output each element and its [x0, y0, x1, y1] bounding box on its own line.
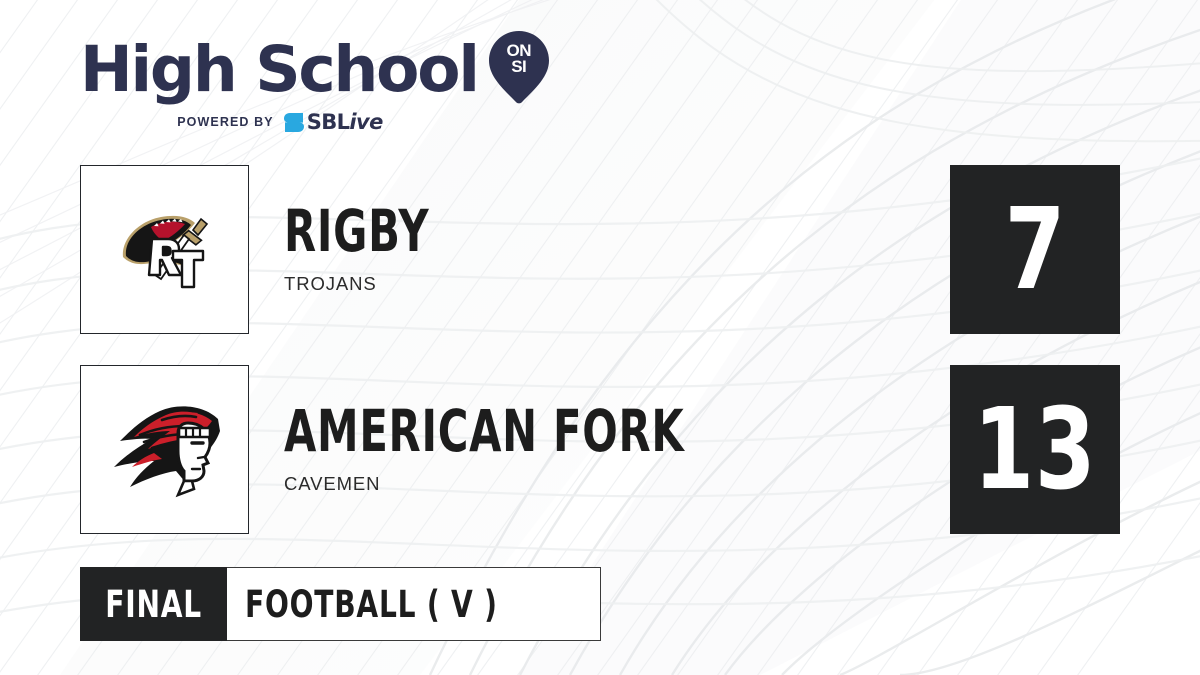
team-score-box: 13 [950, 365, 1120, 534]
pin-label: ON SI [488, 43, 550, 75]
team-name: RIGBY [284, 204, 429, 260]
sblive-text-ive: ive [349, 110, 382, 134]
team-row: AMERICAN FORK CAVEMEN [80, 365, 840, 534]
map-pin-icon: ON SI [488, 30, 550, 104]
powered-by-row: POWERED BY SBLive [80, 110, 480, 134]
powered-by-label: POWERED BY [177, 115, 273, 129]
sport-label-panel: FOOTBALL ( V ) [227, 567, 601, 641]
status-badge-label: FINAL [105, 583, 202, 626]
pin-label-si: SI [488, 59, 550, 75]
team-score: 7 [1004, 194, 1066, 306]
team-row: RIGBY TROJANS [80, 165, 486, 334]
sblive-logo: SBLive [283, 110, 383, 134]
game-status-bar: FINAL FOOTBALL ( V ) [80, 567, 601, 641]
team-logo-box [80, 365, 249, 534]
team-logo-box [80, 165, 249, 334]
sblive-text-sbl: SBL [307, 110, 350, 134]
team-mascot: TROJANS [284, 273, 486, 295]
team-score-box: 7 [950, 165, 1120, 334]
team-score: 13 [973, 394, 1096, 506]
american-fork-cavemen-logo [100, 397, 230, 502]
status-badge: FINAL [80, 567, 227, 641]
team-info: AMERICAN FORK CAVEMEN [284, 404, 840, 496]
rigby-trojans-logo [105, 195, 225, 305]
sblive-bolt-icon [283, 112, 305, 133]
brand-logo: High School ON SI POWERED BY SBLive [80, 34, 550, 134]
brand-wordmark: High School [80, 38, 478, 101]
team-name: AMERICAN FORK [284, 404, 684, 460]
team-info: RIGBY TROJANS [284, 204, 486, 296]
team-mascot: CAVEMEN [284, 473, 840, 495]
sport-label: FOOTBALL ( V ) [245, 583, 498, 626]
